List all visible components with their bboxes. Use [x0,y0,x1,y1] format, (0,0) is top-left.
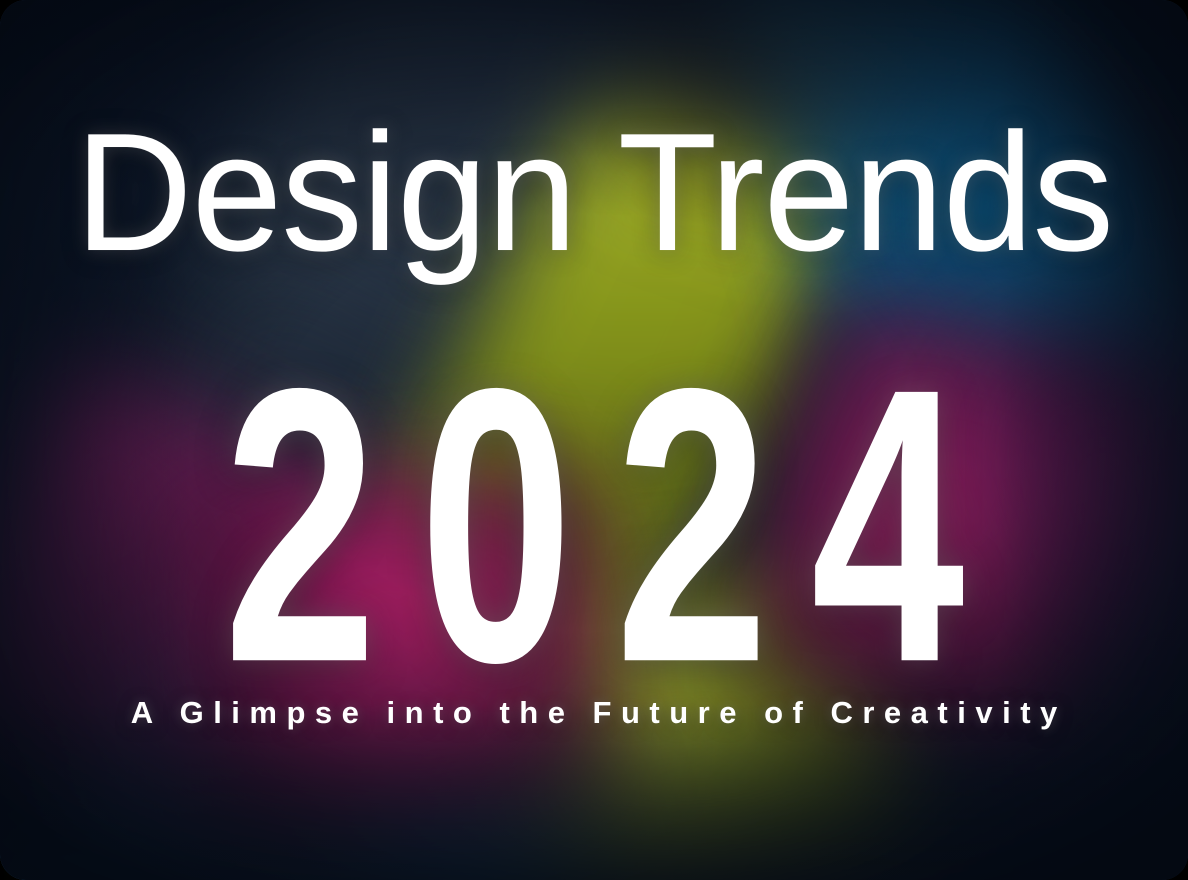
design-trends-poster: Design Trends 2024 A Glimpse into the Fu… [0,0,1188,880]
poster-headline: Design Trends [18,108,1170,276]
poster-content: Design Trends 2024 A Glimpse into the Fu… [0,0,1188,880]
poster-year: 2024 [48,330,1141,720]
poster-tagline: A Glimpse into the Future of Creativity [0,695,1188,731]
